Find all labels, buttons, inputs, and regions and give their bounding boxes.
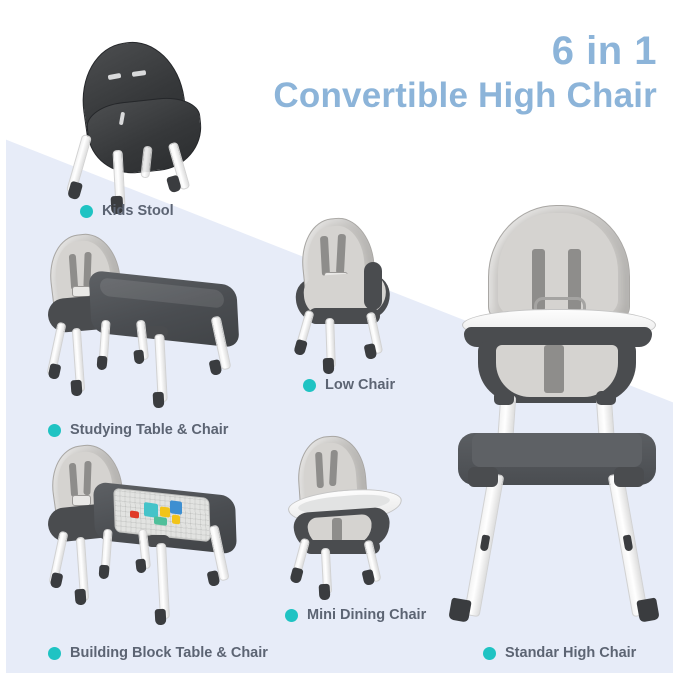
title-line-2: Convertible High Chair bbox=[273, 77, 657, 115]
high-foot-left bbox=[448, 597, 472, 622]
high-lower-leg-joint-left bbox=[468, 467, 498, 487]
high-footrest-top bbox=[472, 433, 642, 467]
caption-label: Standar High Chair bbox=[505, 645, 636, 661]
mini-foot-2 bbox=[319, 584, 331, 601]
toy-block-yellow bbox=[160, 506, 170, 517]
bullet-icon bbox=[48, 424, 61, 437]
product-low-chair[interactable] bbox=[288, 218, 428, 370]
bullet-icon bbox=[303, 379, 316, 392]
high-upper-leg-cap-left bbox=[494, 391, 514, 405]
caption-kids-stool: Kids Stool bbox=[80, 203, 174, 219]
toy-block-blue bbox=[170, 500, 182, 515]
caption-label: Mini Dining Chair bbox=[307, 607, 426, 623]
stool-leg-4 bbox=[140, 146, 152, 179]
bullet-icon bbox=[48, 647, 61, 660]
caption-label: Low Chair bbox=[325, 377, 395, 393]
study-foot-2 bbox=[70, 380, 82, 397]
bullet-icon bbox=[483, 647, 496, 660]
title-line-1: 6 in 1 bbox=[273, 30, 657, 73]
caption-label: Kids Stool bbox=[102, 203, 174, 219]
study-foot-3 bbox=[97, 356, 108, 371]
toy-block-yellow-2 bbox=[172, 514, 180, 524]
toy-block-red bbox=[130, 510, 139, 518]
product-infographic: 6 in 1 Convertible High Chair Kids Stool bbox=[0, 0, 679, 679]
low-foot-1 bbox=[293, 339, 308, 356]
high-lower-leg-joint-right bbox=[614, 467, 644, 487]
bullet-icon bbox=[285, 609, 298, 622]
caption-label: Studying Table & Chair bbox=[70, 422, 228, 438]
block-foot-5 bbox=[155, 609, 167, 626]
block-leg-5 bbox=[156, 543, 170, 619]
block-foot-2 bbox=[74, 589, 86, 606]
caption-mini-dining-chair: Mini Dining Chair bbox=[285, 607, 426, 623]
product-building-block-table-chair[interactable] bbox=[38, 445, 264, 635]
high-crotch-strap bbox=[544, 345, 564, 393]
product-studying-table-chair[interactable] bbox=[38, 234, 264, 412]
block-foot-3 bbox=[99, 565, 110, 580]
caption-label: Building Block Table & Chair bbox=[70, 645, 268, 661]
toy-block-green bbox=[154, 516, 167, 526]
bullet-icon bbox=[80, 205, 93, 218]
mini-foot-1 bbox=[289, 567, 304, 584]
page-edge-bottom bbox=[0, 673, 679, 679]
block-strap-right bbox=[83, 461, 91, 495]
mini-crotch-strap bbox=[332, 518, 342, 542]
block-foot-1 bbox=[50, 572, 64, 589]
caption-studying-table-chair: Studying Table & Chair bbox=[48, 422, 228, 438]
product-mini-dining-chair[interactable] bbox=[284, 436, 424, 596]
low-armrest bbox=[364, 262, 382, 310]
low-foot-2 bbox=[323, 358, 335, 374]
study-foot-1 bbox=[48, 363, 62, 380]
block-foot-4 bbox=[135, 559, 146, 574]
product-standard-high-chair[interactable] bbox=[440, 205, 670, 635]
product-kids-stool[interactable] bbox=[62, 38, 222, 203]
high-upper-leg-cap-right bbox=[596, 391, 616, 405]
high-foot-right bbox=[636, 597, 660, 622]
page-edge-right bbox=[673, 0, 679, 679]
study-foot-5 bbox=[153, 392, 165, 409]
caption-building-block-table-chair: Building Block Table & Chair bbox=[48, 645, 268, 661]
page-title: 6 in 1 Convertible High Chair bbox=[273, 30, 657, 115]
caption-standard-high-chair: Standar High Chair bbox=[483, 645, 636, 661]
study-foot-4 bbox=[133, 350, 144, 365]
page-edge-left bbox=[0, 0, 6, 679]
page-edge-top bbox=[0, 0, 679, 6]
caption-low-chair: Low Chair bbox=[303, 377, 395, 393]
